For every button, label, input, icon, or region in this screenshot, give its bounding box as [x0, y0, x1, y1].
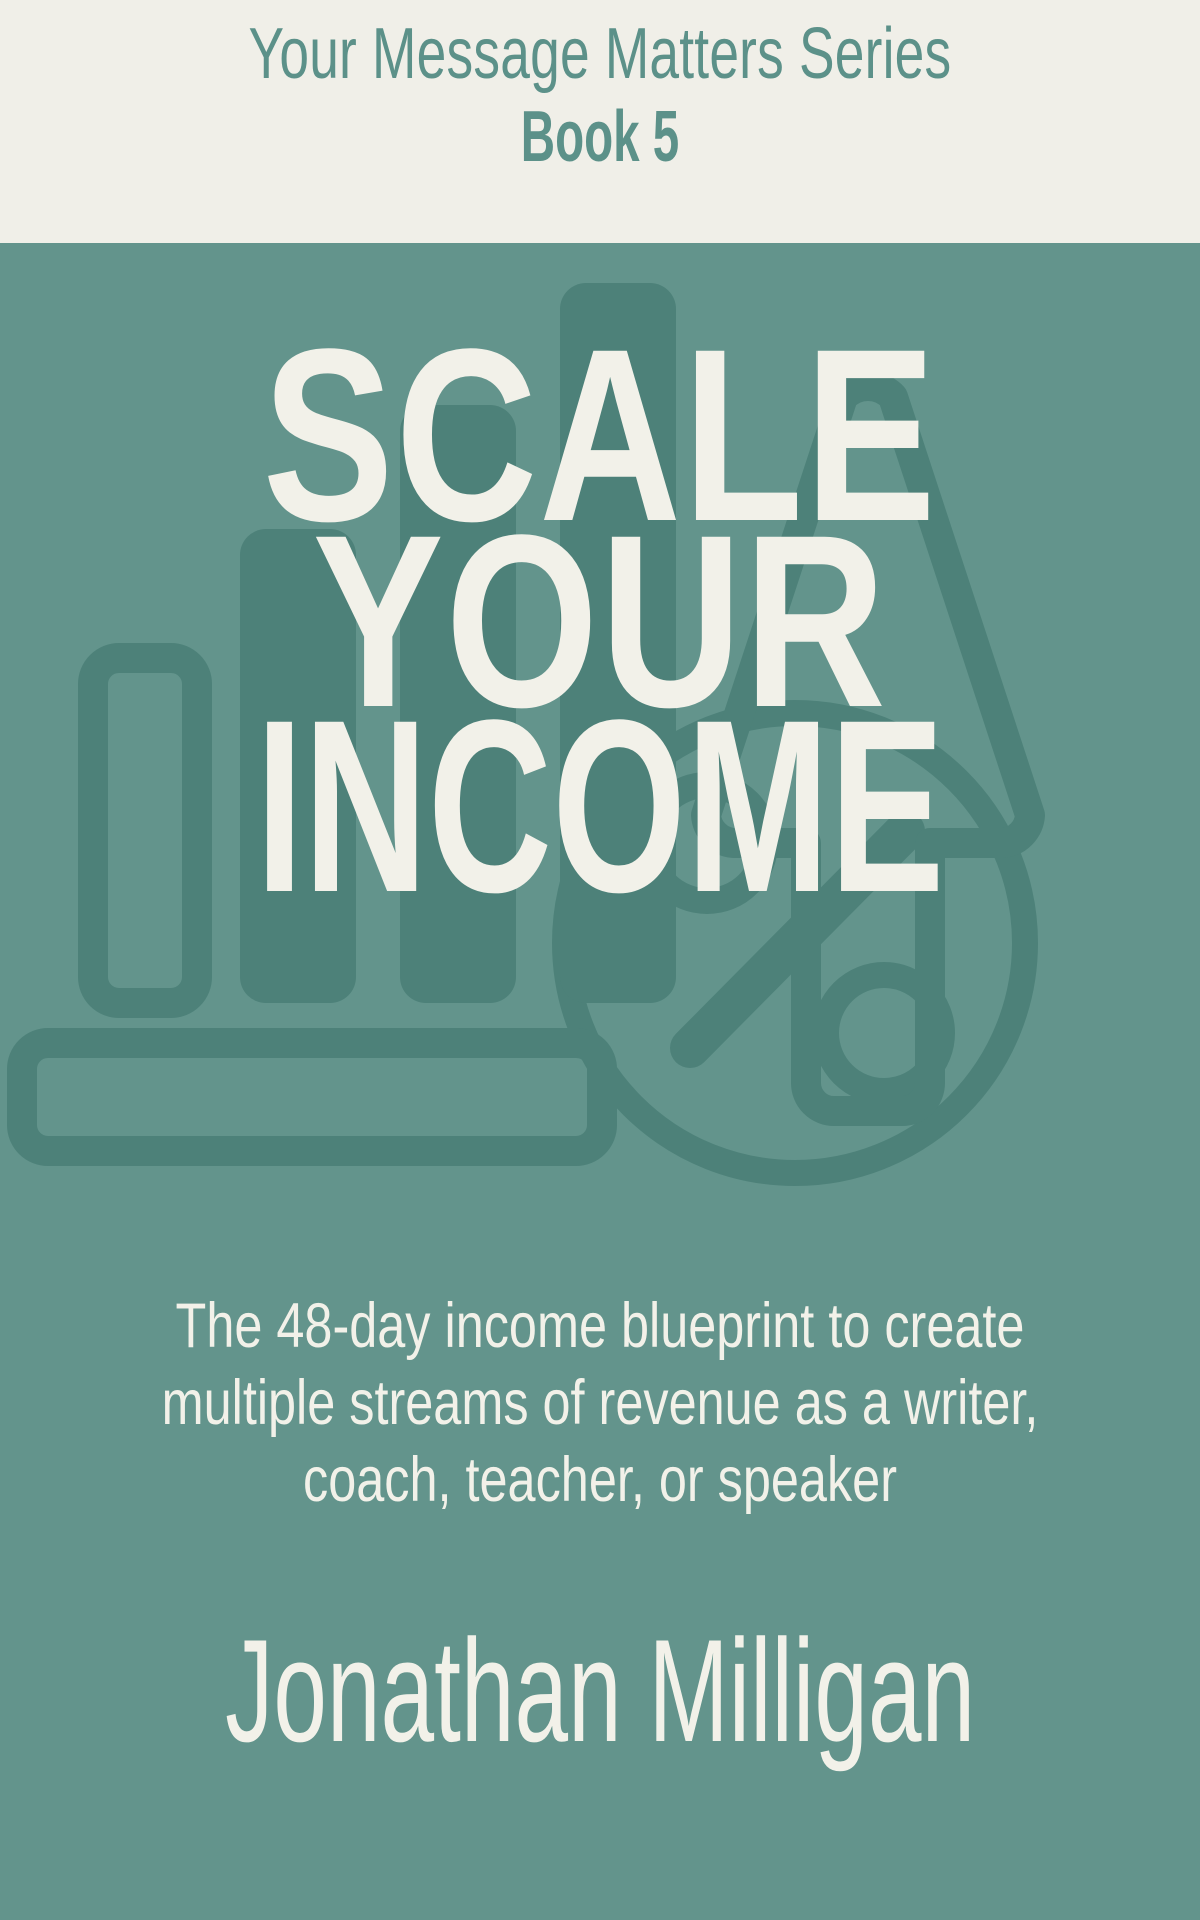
author-block: Jonathan Milligan [0, 1618, 1200, 1764]
series-title: Your Message Matters Series [249, 18, 952, 91]
author-name: Jonathan Milligan [225, 1618, 975, 1764]
book-subtitle: The 48-day income blueprint to create mu… [0, 1288, 1200, 1519]
subtitle-line-3: coach, teacher, or speaker [120, 1442, 1080, 1519]
subtitle-line-2: multiple streams of revenue as a writer, [120, 1365, 1080, 1442]
book-cover: Your Message Matters Series Book 5 SCALE… [0, 0, 1200, 1920]
subtitle-line-1: The 48-day income blueprint to create [120, 1288, 1080, 1365]
title-line-income: INCOME [180, 701, 1020, 913]
bar-chart-baseline [22, 1043, 602, 1151]
series-band: Your Message Matters Series Book 5 [0, 0, 1200, 243]
book-number: Book 5 [521, 101, 679, 173]
book-title: SCALE YOUR INCOME [0, 330, 1200, 913]
